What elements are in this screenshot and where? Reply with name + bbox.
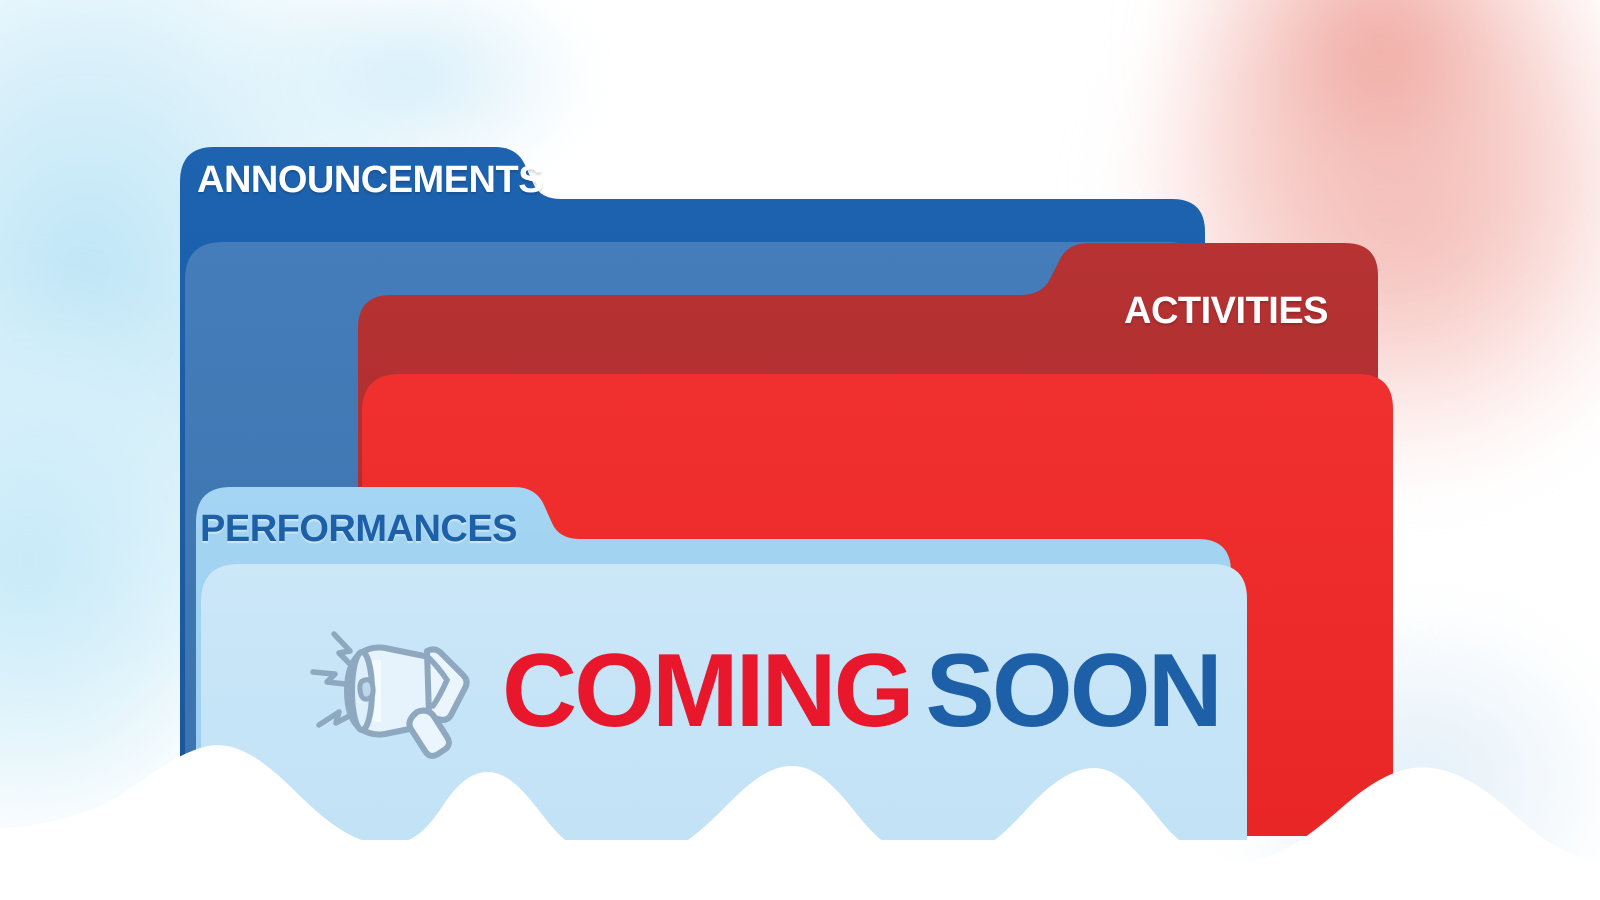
folder-tab-label-performances: PERFORMANCES — [200, 508, 517, 551]
banner-stage: ANNOUNCEMENTS ACTIVITIES PERFORMANCES — [0, 0, 1600, 900]
folder-tab-label-announcements: ANNOUNCEMENTS — [197, 159, 543, 202]
megaphone-clapper — [360, 680, 373, 699]
bottom-wave-decoration — [0, 710, 1600, 900]
folder-tab-label-activities: ACTIVITIES — [1124, 290, 1328, 333]
